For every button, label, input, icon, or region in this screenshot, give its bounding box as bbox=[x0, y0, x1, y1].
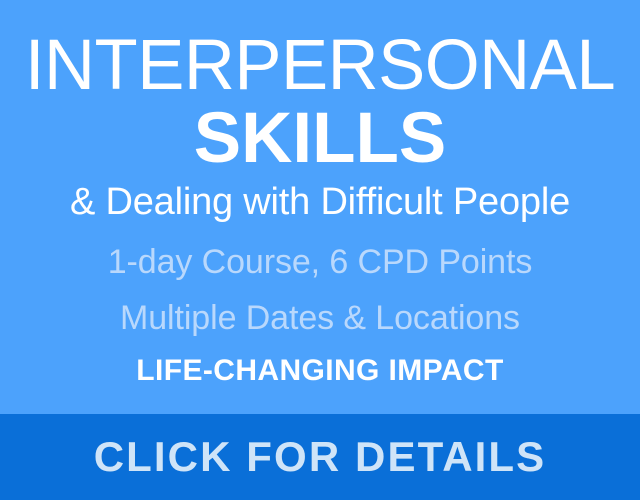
course-detail-duration: 1-day Course, 6 CPD Points bbox=[14, 234, 626, 290]
click-for-details-button[interactable]: CLICK FOR DETAILS bbox=[0, 414, 640, 500]
banner-tagline: LIFE-CHANGING IMPACT bbox=[14, 354, 626, 388]
headline-line-2: SKILLS bbox=[14, 102, 626, 176]
banner-subtitle: & Dealing with Difficult People bbox=[14, 180, 626, 224]
course-detail-dates-locations: Multiple Dates & Locations bbox=[14, 290, 626, 346]
cta-button-label: CLICK FOR DETAILS bbox=[94, 434, 547, 480]
headline-line-1: INTERPERSONAL bbox=[16, 30, 625, 102]
course-advertisement-banner[interactable]: INTERPERSONAL SKILLS & Dealing with Diff… bbox=[0, 0, 640, 500]
banner-content-area: INTERPERSONAL SKILLS & Dealing with Diff… bbox=[0, 0, 640, 414]
course-details-list: 1-day Course, 6 CPD Points Multiple Date… bbox=[14, 234, 626, 346]
